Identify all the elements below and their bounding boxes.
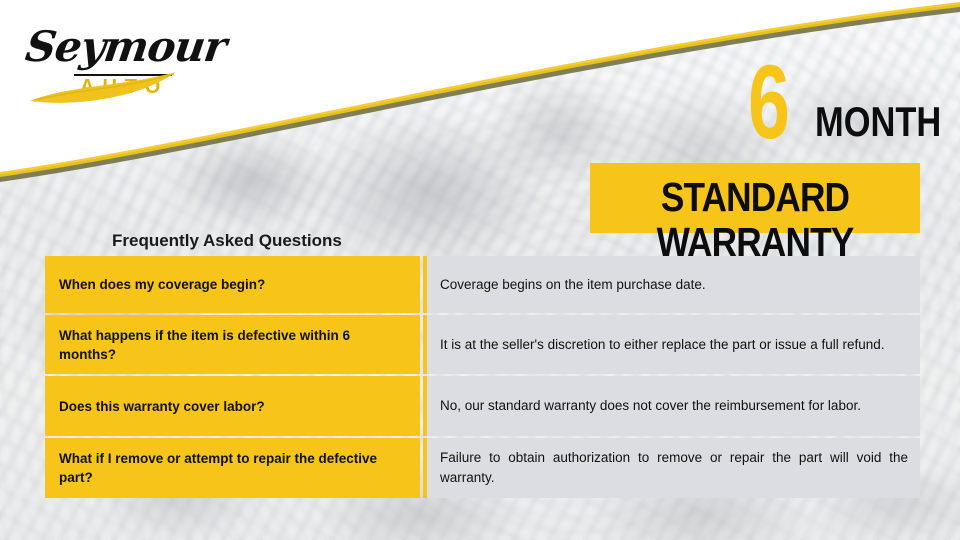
faq-answer-text: It is at the seller's discretion to eith… xyxy=(440,335,908,355)
faq-answer-text: Coverage begins on the item purchase dat… xyxy=(440,275,908,295)
standard-warranty-banner: STANDARD WARRANTY xyxy=(590,163,920,233)
faq-answer-cell: No, our standard warranty does not cover… xyxy=(423,376,920,436)
faq-row: When does my coverage begin? Coverage be… xyxy=(45,256,920,313)
warranty-duration-number: 6 xyxy=(748,50,789,155)
faq-answer-cell: Failure to obtain authorization to remov… xyxy=(423,438,920,498)
faq-table: When does my coverage begin? Coverage be… xyxy=(45,256,920,500)
faq-answer-text: No, our standard warranty does not cover… xyxy=(440,396,908,416)
faq-question-cell: Does this warranty cover labor? xyxy=(45,376,420,436)
faq-row: What if I remove or attempt to repair th… xyxy=(45,438,920,498)
faq-heading: Frequently Asked Questions xyxy=(112,231,342,251)
logo-swoosh-icon xyxy=(16,16,196,108)
faq-answer-text: Failure to obtain authorization to remov… xyxy=(440,448,908,488)
faq-question-cell: What if I remove or attempt to repair th… xyxy=(45,438,420,498)
seymour-auto-logo[interactable]: Seymour AUTO xyxy=(16,16,196,108)
faq-question-cell: When does my coverage begin? xyxy=(45,256,420,313)
faq-question-cell: What happens if the item is defective wi… xyxy=(45,315,420,374)
warranty-duration-unit: MONTH xyxy=(815,101,941,143)
faq-answer-cell: It is at the seller's discretion to eith… xyxy=(423,315,920,374)
faq-answer-cell: Coverage begins on the item purchase dat… xyxy=(423,256,920,313)
faq-row: Does this warranty cover labor? No, our … xyxy=(45,376,920,436)
faq-row: What happens if the item is defective wi… xyxy=(45,315,920,374)
warranty-slide: Seymour AUTO 6 MONTH STANDARD WARRANTY F… xyxy=(0,0,960,540)
standard-warranty-banner-text: STANDARD WARRANTY xyxy=(613,175,897,265)
